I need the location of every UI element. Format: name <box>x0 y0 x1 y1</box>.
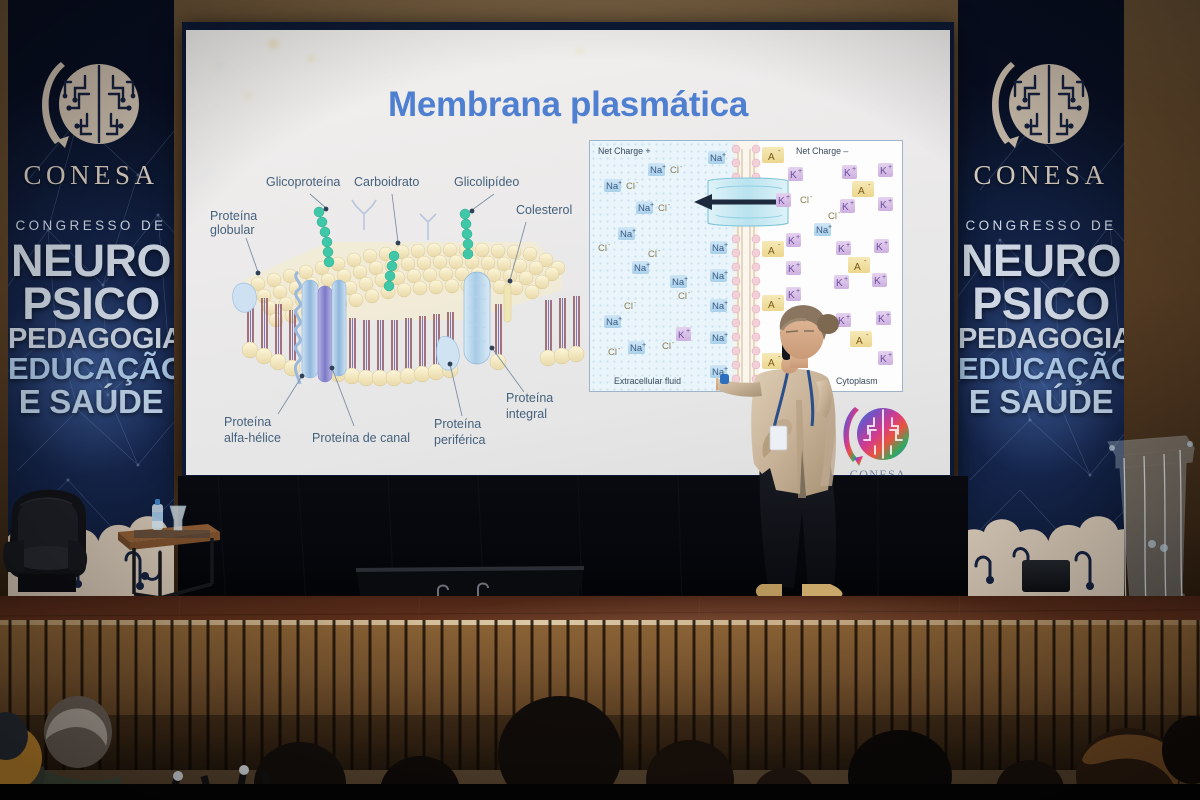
svg-text:+: + <box>850 200 854 207</box>
ion-na: Na+ <box>710 269 728 282</box>
label-proteina-integral-1: Proteína <box>506 391 553 405</box>
banner-line-neuro: NEURO <box>958 240 1124 282</box>
ion-a: A- <box>852 180 874 197</box>
svg-text:Cl: Cl <box>670 165 679 176</box>
svg-text:Cl: Cl <box>626 181 635 192</box>
label-net-charge-negative: Net Charge – <box>796 146 848 156</box>
carbohydrate-branch <box>352 200 436 240</box>
svg-text:Cl: Cl <box>828 211 837 222</box>
audience-silhouettes <box>0 680 1200 800</box>
ion-k: K+ <box>786 261 801 275</box>
svg-text:K: K <box>838 244 845 255</box>
label-glicoproteina: Glicoproteína <box>266 175 340 189</box>
label-proteina-alfa-helice-1: Proteína <box>224 415 271 429</box>
svg-text:Cl: Cl <box>598 243 607 254</box>
svg-text:+: + <box>798 168 802 175</box>
svg-text:+: + <box>882 274 886 281</box>
svg-text:+: + <box>796 288 800 295</box>
svg-text:+: + <box>884 240 888 247</box>
svg-text:A: A <box>768 152 775 163</box>
svg-text:Na: Na <box>672 277 685 288</box>
banner-line-psico: PSICO <box>8 283 174 325</box>
svg-text:+: + <box>662 164 666 171</box>
svg-text:+: + <box>852 166 856 173</box>
svg-text:+: + <box>650 202 654 209</box>
label-proteina-periferica-1: Proteína <box>434 417 481 431</box>
banner-line-educacao: EDUCAÇÃO <box>8 354 174 383</box>
ion-na: Na+ <box>636 201 654 214</box>
banner-line-saude: E SAÚDE <box>8 386 174 417</box>
svg-text:+: + <box>786 194 790 201</box>
svg-text:Na: Na <box>630 343 643 354</box>
svg-text:Cl: Cl <box>678 291 687 302</box>
svg-text:Na: Na <box>650 165 663 176</box>
ion-a: A- <box>848 256 870 273</box>
svg-text:K: K <box>788 236 795 247</box>
svg-text:K: K <box>844 168 851 179</box>
ion-na: Na+ <box>604 315 622 328</box>
svg-text:Na: Na <box>816 225 829 236</box>
label-proteina-globular-2: globular <box>210 223 254 237</box>
svg-text:+: + <box>844 276 848 283</box>
label-carboidrato: Carboidrato <box>354 175 419 189</box>
svg-text:K: K <box>842 202 849 213</box>
label-glicolipideo: Glicolipídeo <box>454 175 519 189</box>
svg-text:Cl: Cl <box>658 203 667 214</box>
conference-photo: CONESA CONGRESSO DE NEURO PSICO PEDAGOGI… <box>0 0 1200 800</box>
svg-text:+: + <box>888 164 892 171</box>
ion-na: Na+ <box>604 179 622 192</box>
label-proteina-alfa-helice-2: alfa-hélice <box>224 431 281 445</box>
slide-title: Membrana plasmática <box>186 85 950 125</box>
banner-kicker: CONGRESSO DE <box>8 218 174 233</box>
ion-na: Na + <box>814 223 832 236</box>
svg-text:K: K <box>876 242 883 253</box>
label-proteina-integral-2: integral <box>506 407 547 421</box>
wooden-side-table <box>112 498 224 602</box>
svg-text:+: + <box>684 276 688 283</box>
conesa-brain-logo-icon <box>985 52 1097 160</box>
banner-line-saude: E SAÚDE <box>958 386 1124 417</box>
svg-text:Cl: Cl <box>624 301 633 312</box>
ion-k: K+ <box>776 193 791 207</box>
ion-a: A- <box>762 240 784 257</box>
svg-text:Na: Na <box>606 181 619 192</box>
svg-text:+: + <box>618 316 622 323</box>
acrylic-lectern[interactable] <box>1090 418 1198 624</box>
ion-k: K+ <box>676 327 691 341</box>
svg-text:Na: Na <box>620 229 633 240</box>
svg-text:K: K <box>678 330 685 341</box>
svg-text:A: A <box>854 262 861 273</box>
svg-text:K: K <box>880 200 887 211</box>
cholesterol-shape <box>504 284 511 322</box>
pointing-hand <box>716 377 718 392</box>
svg-text:+: + <box>724 242 728 249</box>
ion-k: K+ <box>786 287 801 301</box>
banner-line-pedagogia: PEDAGOGIA, <box>8 326 174 353</box>
banner-brand-name: CONESA <box>958 160 1124 191</box>
svg-text:A: A <box>858 186 865 197</box>
svg-text:+: + <box>642 342 646 349</box>
svg-text:Na: Na <box>712 271 725 282</box>
banner-line-pedagogia: PEDAGOGIA, <box>958 326 1124 353</box>
svg-text:+: + <box>886 312 890 319</box>
ion-a: A- <box>762 146 784 163</box>
svg-text:K: K <box>790 170 797 181</box>
svg-text:K: K <box>788 264 795 275</box>
lanyard-badge <box>770 426 787 450</box>
label-proteina-globular-1: Proteína <box>210 209 257 223</box>
speaker-presenting <box>716 300 886 602</box>
svg-text:+: + <box>686 328 690 335</box>
stage-loudspeaker <box>1022 560 1070 592</box>
svg-text:Na: Na <box>606 317 619 328</box>
banner-brand-name: CONESA <box>8 160 174 191</box>
hair-bun <box>817 314 839 334</box>
svg-text:K: K <box>778 196 785 207</box>
ion-k: K+ <box>842 165 857 179</box>
wrist-band <box>720 374 729 384</box>
banner-kicker: CONGRESSO DE <box>958 218 1124 233</box>
label-extracellular-fluid: Extracellular fluid <box>614 376 681 386</box>
channel-protein-shape <box>302 280 346 382</box>
chair-rail-caps <box>173 765 249 781</box>
ion-k: K+ <box>878 197 893 211</box>
svg-text:+: + <box>796 262 800 269</box>
banner-line-educacao: EDUCAÇÃO <box>958 354 1124 383</box>
svg-text:Na: Na <box>634 263 647 274</box>
ion-na: Na+ <box>708 151 726 164</box>
svg-text:Na: Na <box>712 243 725 254</box>
ion-k: K+ <box>872 273 887 287</box>
ion-na: Na+ <box>632 261 650 274</box>
svg-text:Cl: Cl <box>662 341 671 352</box>
svg-text:+: + <box>618 180 622 187</box>
label-proteina-de-canal: Proteína de canal <box>312 431 410 445</box>
svg-text:+: + <box>724 270 728 277</box>
svg-text:+: + <box>888 352 892 359</box>
ion-k: K+ <box>834 275 849 289</box>
svg-text:Na: Na <box>710 153 723 164</box>
svg-text:K: K <box>874 276 881 287</box>
ion-k: K+ <box>840 199 855 213</box>
svg-text:K: K <box>836 278 843 289</box>
label-colesterol: Colesterol <box>516 203 572 217</box>
ion-na: Na+ <box>618 227 636 240</box>
svg-text:+: + <box>828 224 832 231</box>
ion-na: Na+ <box>670 275 688 288</box>
svg-text:+: + <box>632 228 636 235</box>
svg-text:+: + <box>888 198 892 205</box>
svg-text:+: + <box>796 234 800 241</box>
svg-text:Cl: Cl <box>648 249 657 260</box>
svg-text:+: + <box>646 262 650 269</box>
svg-text:Cl: Cl <box>608 347 617 358</box>
banner-line-neuro: NEURO <box>8 240 174 282</box>
ion-k: K+ <box>836 241 851 255</box>
svg-text:A: A <box>768 246 775 257</box>
ion-k: K+ <box>874 239 889 253</box>
black-leather-armchair <box>2 470 130 598</box>
globular-protein-shape <box>233 283 257 312</box>
ion-na: Na+ <box>628 341 646 354</box>
ion-na: Na+ <box>710 241 728 254</box>
svg-text:Cl: Cl <box>800 195 809 206</box>
svg-text:Na: Na <box>638 203 651 214</box>
integral-protein-shape <box>464 272 490 364</box>
svg-text:+: + <box>846 242 850 249</box>
label-proteina-periferica-2: periférica <box>434 433 485 447</box>
fluid-mosaic-membrane-diagram: Glicoproteína Carboidrato Glicolipídeo P… <box>206 168 596 458</box>
svg-text:K: K <box>880 166 887 177</box>
label-net-charge-positive: Net Charge + <box>598 146 651 156</box>
ion-k: K+ <box>878 163 893 177</box>
ion-k: K+ <box>786 233 801 247</box>
banner-line-psico: PSICO <box>958 283 1124 325</box>
ion-na: Na+ <box>648 163 666 176</box>
ion-k: K+ <box>788 167 803 181</box>
water-bottle <box>152 499 163 530</box>
conesa-brain-logo-icon <box>35 52 147 160</box>
svg-text:+: + <box>722 152 726 159</box>
